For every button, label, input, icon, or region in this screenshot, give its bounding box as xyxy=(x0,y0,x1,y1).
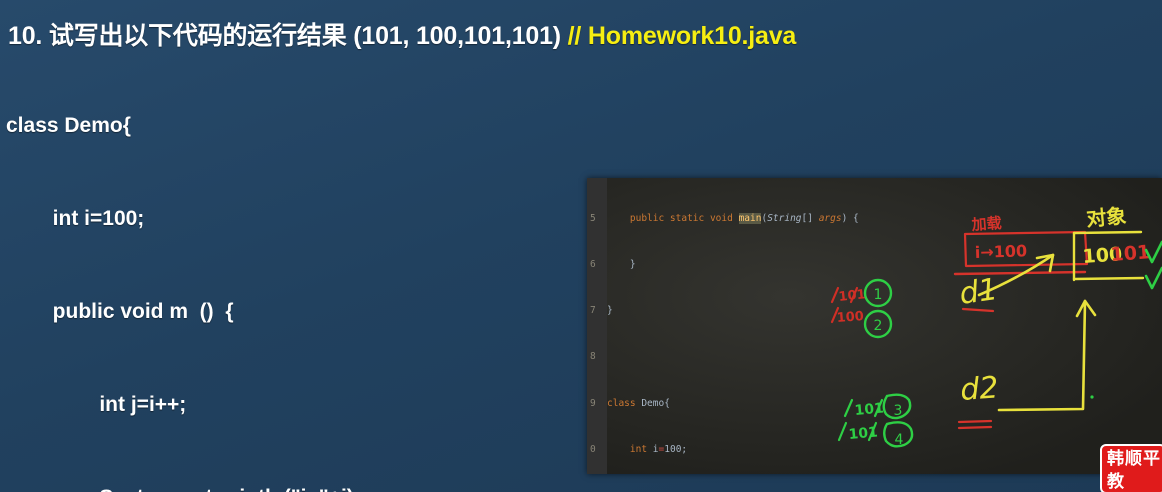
ide-code-row: 5 public static void main(String[] args)… xyxy=(587,211,893,226)
slide-code-line: System.out.println("i="+i); xyxy=(6,482,426,492)
slide-code-line: int j=i++; xyxy=(6,389,426,420)
ide-screenshot-panel: 5 public static void main(String[] args)… xyxy=(587,178,1162,474)
ide-line-number: 0 xyxy=(587,442,607,457)
ide-line-number: 6 xyxy=(587,257,607,272)
slide-code-line: public void m () { xyxy=(6,296,426,327)
ide-line-number: 9 xyxy=(587,396,607,411)
ide-line-number: 7 xyxy=(587,303,607,318)
ide-line-number: 8 xyxy=(587,349,607,364)
slide-code-block: class Demo{ int i=100; public void m () … xyxy=(6,48,426,492)
slide-title: 10. 试写出以下代码的运行结果 (101, 100,101,101) // H… xyxy=(8,16,796,52)
ide-code-area: 5 public static void main(String[] args)… xyxy=(587,180,893,474)
ide-code-row: 9class Demo{ xyxy=(587,396,893,411)
brand-logo-badge: 韩顺平 教 育 xyxy=(1100,444,1162,492)
brand-logo-line2: 教 育 xyxy=(1107,471,1162,492)
slide-title-filename: // Homework10.java xyxy=(568,22,796,50)
brand-logo-line1: 韩顺平 xyxy=(1107,448,1162,471)
slide-code-line: class Demo{ xyxy=(6,110,426,141)
ide-code-row: 6 } xyxy=(587,257,893,272)
slide-title-text: 10. 试写出以下代码的运行结果 (101, 100,101,101) xyxy=(8,22,568,50)
ide-code-row: 8 xyxy=(587,349,893,364)
ide-line-number: 5 xyxy=(587,211,607,226)
slide-code-line: int i=100; xyxy=(6,203,426,234)
slide-canvas: 10. 试写出以下代码的运行结果 (101, 100,101,101) // H… xyxy=(0,0,1162,492)
ide-code-row: 0 int i=100; xyxy=(587,442,893,457)
ide-code-row: 7} xyxy=(587,303,893,318)
